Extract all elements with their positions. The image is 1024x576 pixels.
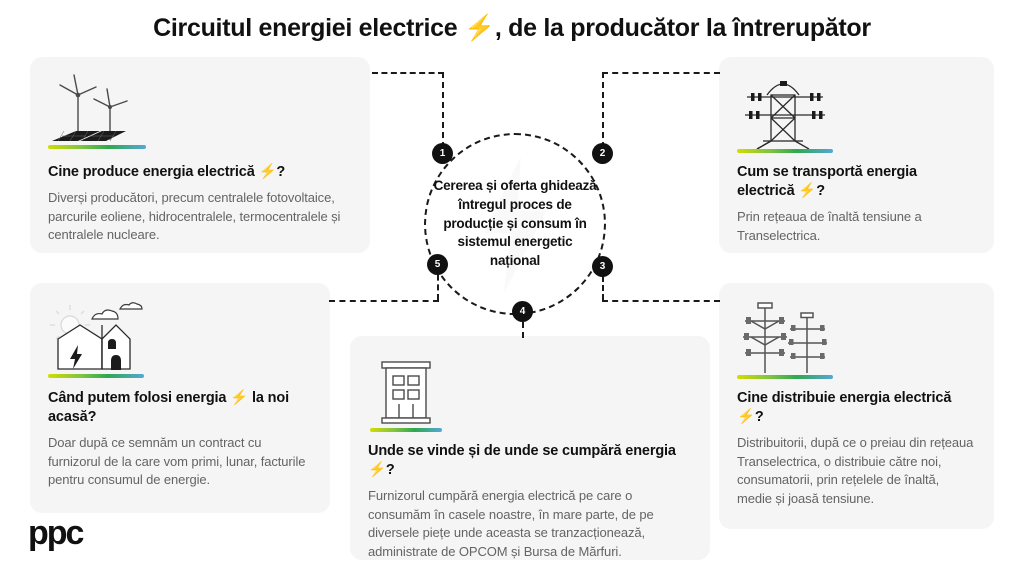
ground-bar	[48, 374, 144, 378]
ground-bar	[737, 149, 833, 153]
transmission-tower-icon	[737, 73, 837, 153]
card-transport[interactable]: Cum se transportă energia electrică ⚡? P…	[719, 57, 994, 253]
card-transport-heading: Cum se transportă energia electrică ⚡?	[737, 163, 976, 201]
badge-2[interactable]: 2	[592, 143, 613, 164]
house-sun-cloud-icon	[48, 299, 160, 379]
connector-1-horizontal	[372, 72, 444, 74]
infographic-canvas: Circuitul energiei electrice ⚡, de la pr…	[0, 0, 1024, 576]
badge-1[interactable]: 1	[432, 143, 453, 164]
card-home-heading: Când putem folosi energia ⚡ la noi acasă…	[48, 389, 312, 427]
connector-2-horizontal	[602, 72, 720, 74]
card-distribute-heading: Cine distribuie energia electrică ⚡?	[737, 389, 976, 427]
hub-text: Cererea și oferta ghidează întregul proc…	[424, 133, 606, 315]
card-home-icon-area	[48, 299, 312, 383]
wind-turbine-solar-panel-icon	[48, 73, 158, 153]
card-produce[interactable]: Cine produce energia electrică ⚡? Diverș…	[30, 57, 370, 253]
card-transport-icon-area	[737, 73, 976, 157]
ppc-logo[interactable]: ppc	[28, 516, 82, 550]
ground-bar	[48, 145, 146, 149]
card-home-body: Doar după ce semnăm un contract cu furni…	[48, 434, 312, 489]
connector-2-vertical	[602, 72, 604, 148]
connector-1-vertical	[442, 72, 444, 148]
badge-3[interactable]: 3	[592, 256, 613, 277]
ground-bar	[737, 375, 833, 379]
card-market-icon-area	[368, 352, 692, 436]
card-transport-body: Prin rețeaua de înaltă tensiune a Transe…	[737, 208, 976, 245]
page-title: Circuitul energiei electrice ⚡, de la pr…	[0, 14, 1024, 43]
connector-3-horizontal	[602, 300, 720, 302]
ground-bar	[370, 428, 442, 432]
card-market-heading: Unde se vinde și de unde se cumpără ener…	[368, 442, 692, 480]
card-produce-heading: Cine produce energia electrică ⚡?	[48, 163, 352, 182]
office-building-icon	[368, 352, 448, 426]
distribution-poles-icon	[737, 299, 841, 379]
card-produce-body: Diverși producători, precum centralele f…	[48, 189, 352, 244]
badge-5[interactable]: 5	[427, 254, 448, 275]
card-market[interactable]: Unde se vinde și de unde se cumpără ener…	[350, 336, 710, 560]
card-home[interactable]: Când putem folosi energia ⚡ la noi acasă…	[30, 283, 330, 513]
card-distribute-icon-area	[737, 299, 976, 383]
card-market-body: Furnizorul cumpără energia electrică pe …	[368, 487, 692, 561]
card-produce-icon-area	[48, 73, 352, 157]
card-distribute[interactable]: Cine distribuie energia electrică ⚡? Dis…	[719, 283, 994, 529]
card-distribute-body: Distribuitorii, după ce o preiau din reț…	[737, 434, 976, 508]
badge-4[interactable]: 4	[512, 301, 533, 322]
connector-5-horizontal	[329, 300, 439, 302]
